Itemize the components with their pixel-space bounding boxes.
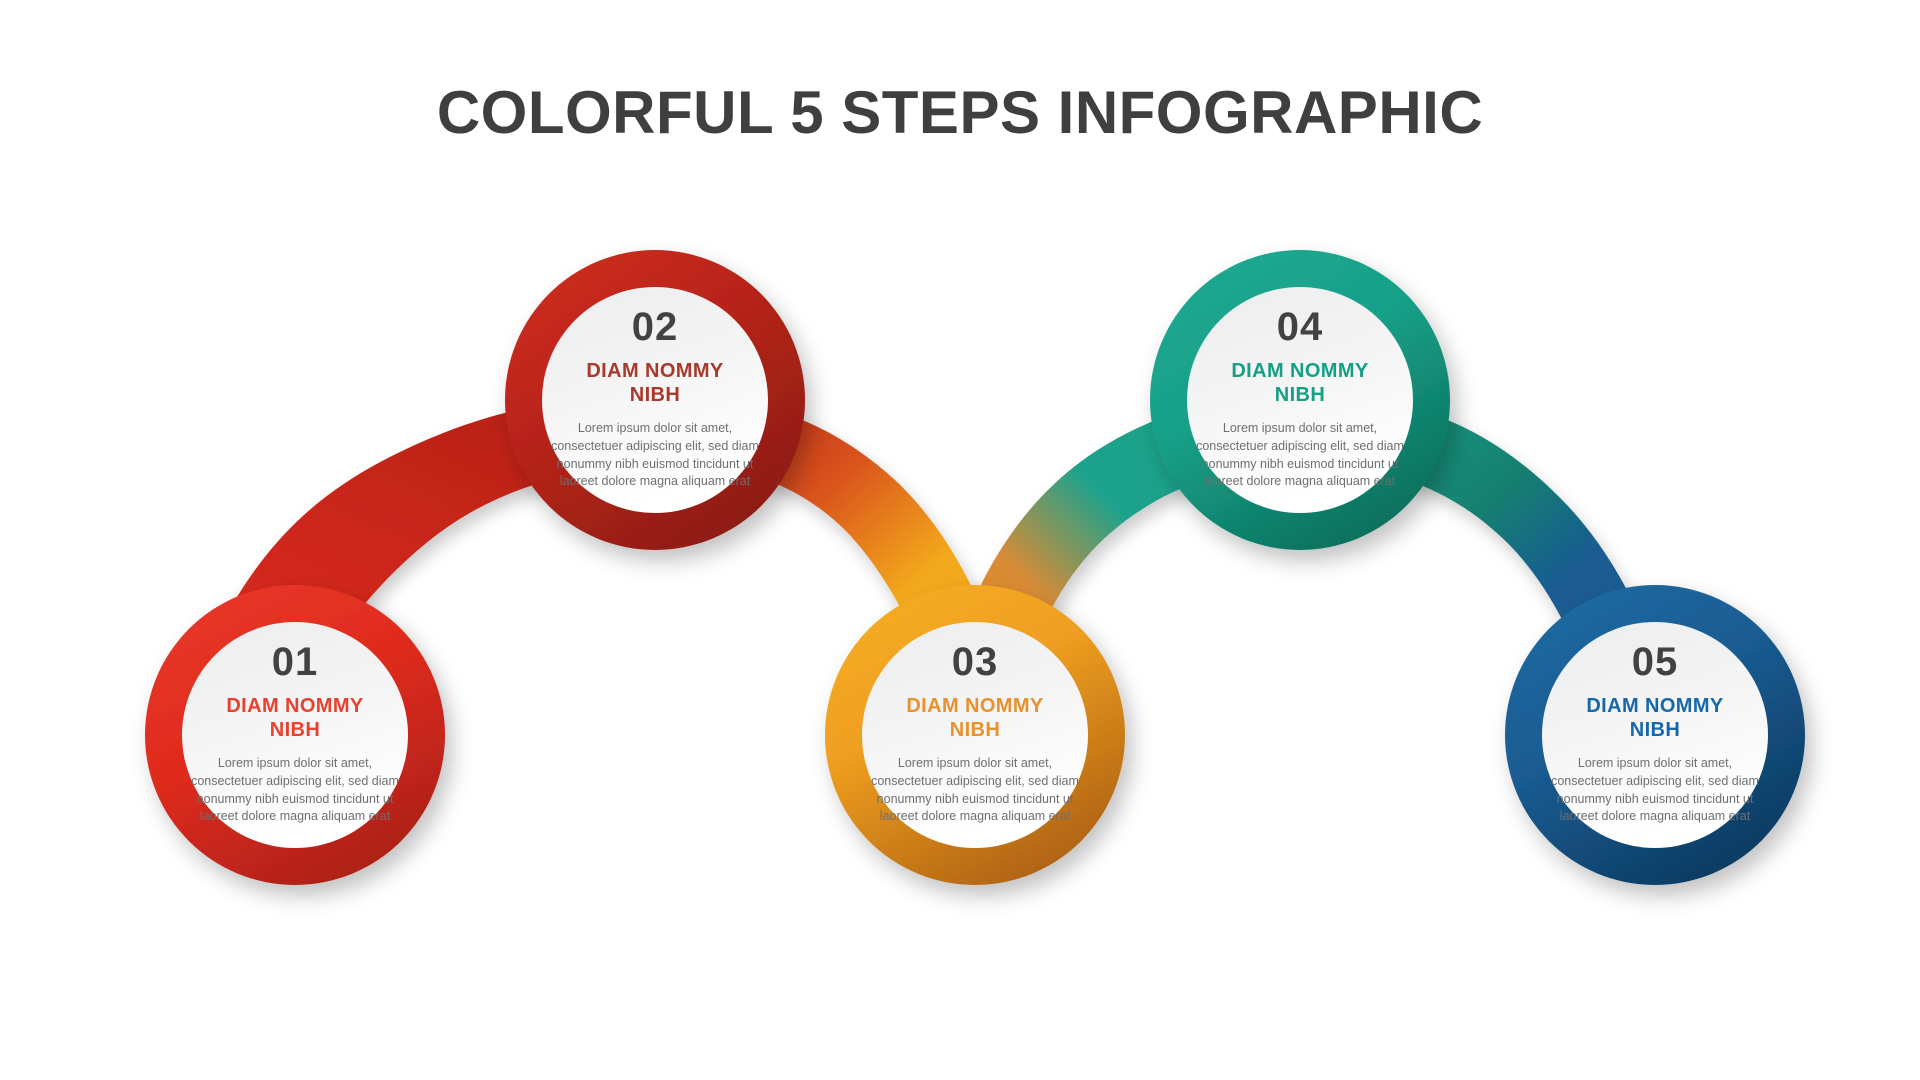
infographic-canvas: COLORFUL 5 STEPS INFOGRAPHIC: [0, 0, 1920, 1080]
step-node-02[interactable]: [505, 250, 805, 550]
step-node-05[interactable]: [1505, 585, 1805, 885]
step-node-03[interactable]: [825, 585, 1125, 885]
step-node-01[interactable]: [145, 585, 445, 885]
step-node-04[interactable]: [1150, 250, 1450, 550]
steps-chain-graphic: [0, 0, 1920, 1080]
